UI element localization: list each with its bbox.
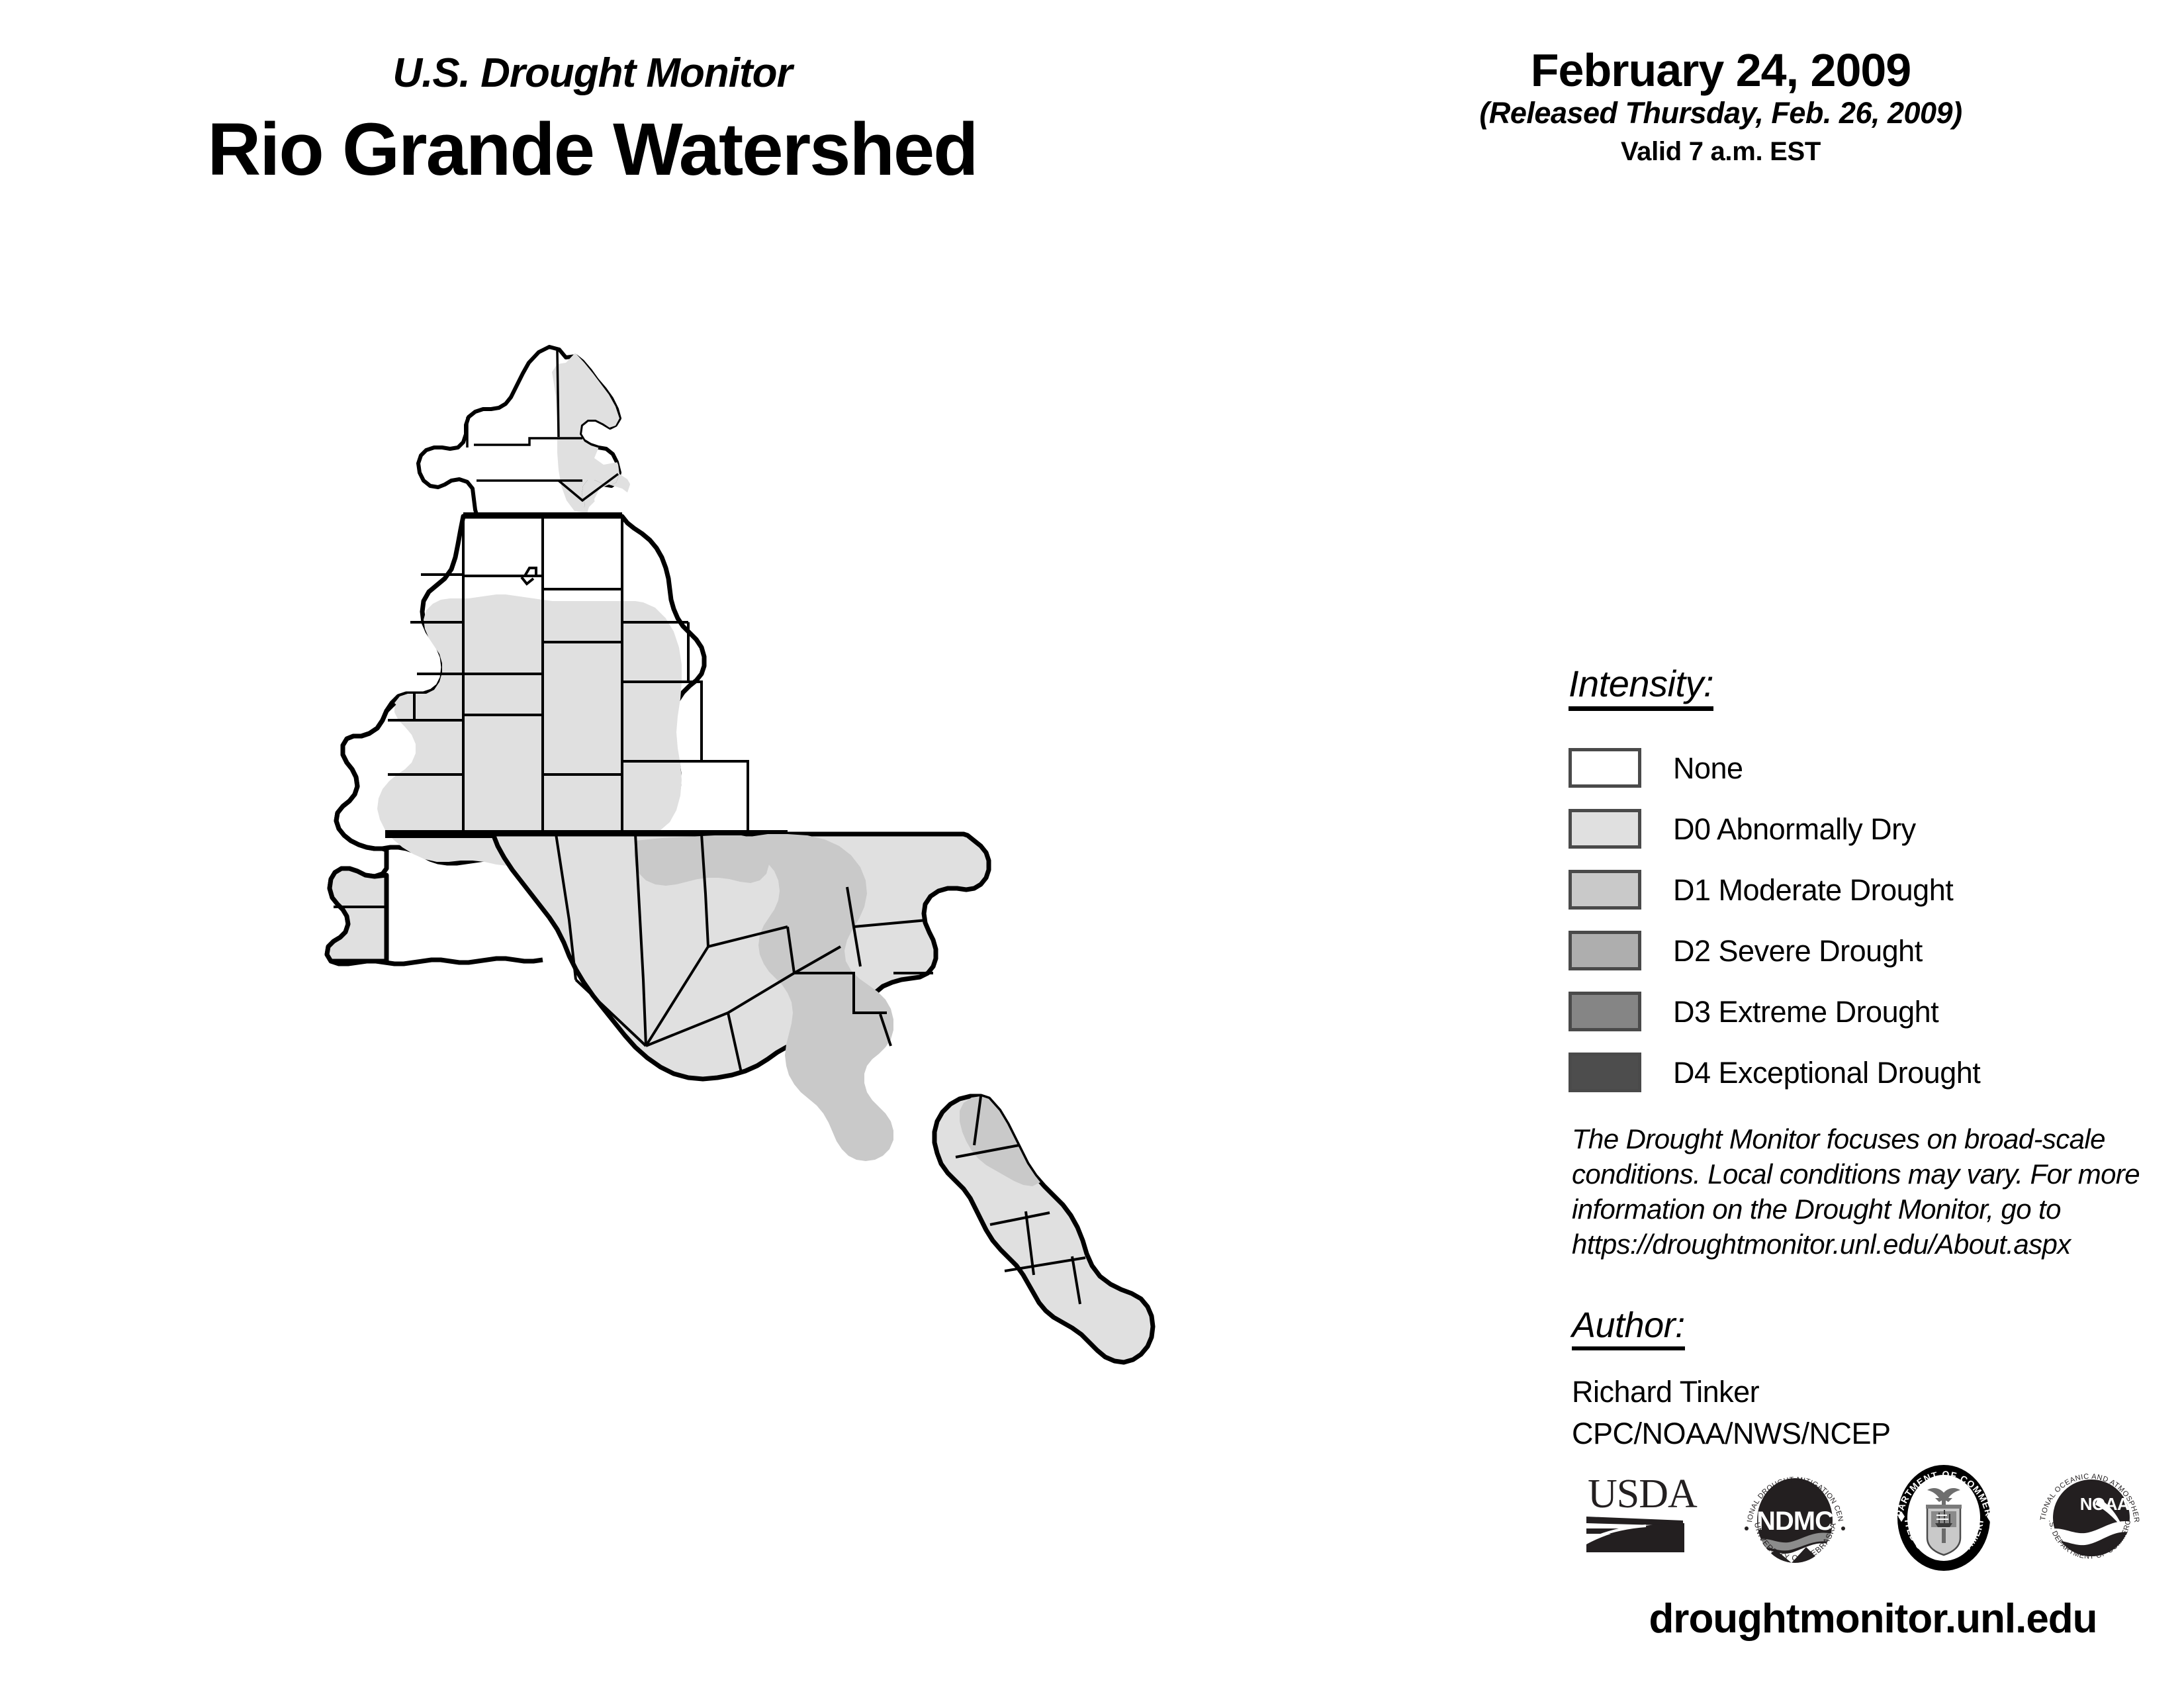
legend-label-none: None: [1673, 753, 1743, 783]
author-affiliation: CPC/NOAA/NWS/NCEP: [1572, 1416, 2167, 1452]
valid-time: Valid 7 a.m. EST: [1291, 132, 2151, 171]
author-title-wrap: Author:: [1572, 1307, 2167, 1350]
legend-swatch-d4: [1569, 1053, 1641, 1092]
legend-title: Intensity:: [1569, 665, 1713, 711]
disclaimer-text: The Drought Monitor focuses on broad-sca…: [1572, 1122, 2184, 1262]
disclaimer-line-1: The Drought Monitor focuses on broad-sca…: [1572, 1122, 2184, 1157]
agency-logos: USDA NDMC NATIONAL DROUGHT MITIGA: [1585, 1460, 2108, 1582]
svg-text:NOAA: NOAA: [2080, 1494, 2130, 1514]
disclaimer-line-3: information on the Drought Monitor, go t…: [1572, 1192, 2184, 1227]
legend-item-d0[interactable]: D0 Abnormally Dry: [1569, 798, 2164, 859]
legend-rows: None D0 Abnormally Dry D1 Moderate Droug…: [1569, 737, 2164, 1103]
drought-map[interactable]: [265, 311, 1350, 1589]
legend-swatch-none: [1569, 748, 1641, 788]
ndmc-logo[interactable]: NDMC NATIONAL DROUGHT MITIGATION CENTER …: [1737, 1460, 1853, 1575]
author-title: Author:: [1572, 1307, 1685, 1350]
page-title: Rio Grande Watershed: [0, 113, 1185, 187]
legend-label-d2: D2 Severe Drought: [1673, 936, 1923, 966]
legend-title-wrap: Intensity:: [1569, 665, 2164, 711]
noaa-logo[interactable]: NOAA NATIONAL OCEANIC AND ATMOSPHERIC U.…: [2032, 1460, 2148, 1575]
department-of-commerce-logo[interactable]: DEPARTMENT OF COMMERCE UNITED STATES OF …: [1886, 1460, 2002, 1575]
legend-swatch-d2: [1569, 931, 1641, 970]
legend-label-d1: D1 Moderate Drought: [1673, 875, 1953, 905]
legend-item-none[interactable]: None: [1569, 737, 2164, 798]
legend-item-d1[interactable]: D1 Moderate Drought: [1569, 859, 2164, 920]
usda-logo[interactable]: USDA: [1585, 1460, 1701, 1575]
legend-label-d0: D0 Abnormally Dry: [1673, 814, 1916, 844]
author-block: Author: Richard Tinker CPC/NOAA/NWS/NCEP: [1572, 1307, 2167, 1452]
legend-item-d3[interactable]: D3 Extreme Drought: [1569, 981, 2164, 1042]
legend-swatch-d1: [1569, 870, 1641, 910]
page-subtitle: U.S. Drought Monitor: [0, 53, 1185, 94]
svg-text:NDMC: NDMC: [1756, 1507, 1833, 1536]
legend-item-d2[interactable]: D2 Severe Drought: [1569, 920, 2164, 981]
legend: Intensity: None D0 Abnormally Dry D1 Mod…: [1569, 665, 2164, 1103]
footer-url[interactable]: droughtmonitor.unl.edu: [1542, 1599, 2184, 1640]
map-svg[interactable]: [265, 311, 1350, 1589]
valid-date: February 24, 2009: [1291, 46, 2151, 95]
svg-text:USDA: USDA: [1588, 1472, 1698, 1517]
legend-label-d4: D4 Exceptional Drought: [1673, 1058, 1980, 1088]
legend-swatch-d0: [1569, 809, 1641, 849]
release-date: (Released Thursday, Feb. 26, 2009): [1291, 95, 2151, 132]
date-block: February 24, 2009 (Released Thursday, Fe…: [1291, 46, 2151, 171]
author-name: Richard Tinker: [1572, 1374, 2167, 1411]
legend-item-d4[interactable]: D4 Exceptional Drought: [1569, 1042, 2164, 1103]
legend-swatch-d3: [1569, 992, 1641, 1031]
disclaimer-link[interactable]: https://droughtmonitor.unl.edu/About.asp…: [1572, 1227, 2184, 1262]
disclaimer-line-2: conditions. Local conditions may vary. F…: [1572, 1157, 2184, 1192]
legend-label-d3: D3 Extreme Drought: [1673, 997, 1938, 1027]
